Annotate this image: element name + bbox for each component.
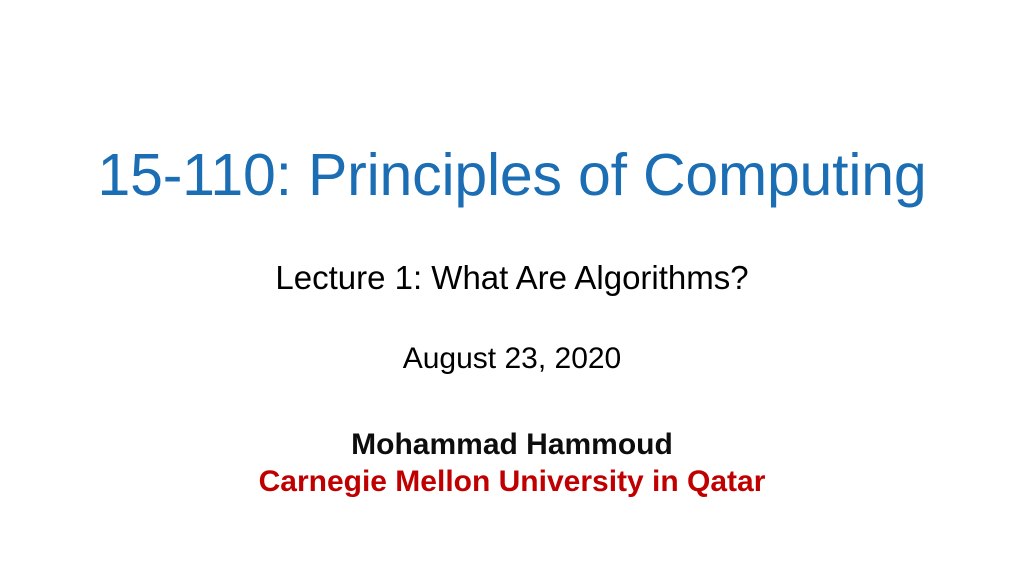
presenter-name: Mohammad Hammoud bbox=[0, 426, 1024, 464]
subtitle-date-spacer bbox=[0, 298, 1024, 341]
lecture-subtitle: Lecture 1: What Are Algorithms? bbox=[0, 258, 1024, 298]
lecture-date: August 23, 2020 bbox=[0, 341, 1024, 378]
slide-body-block: Lecture 1: What Are Algorithms? August 2… bbox=[0, 258, 1024, 501]
slide-title: 15-110: Principles of Computing bbox=[0, 142, 1024, 208]
title-block: 15-110: Principles of Computing bbox=[0, 142, 1024, 208]
date-presenter-spacer bbox=[0, 378, 1024, 426]
presenter-affiliation: Carnegie Mellon University in Qatar bbox=[0, 463, 1024, 501]
presentation-slide: 15-110: Principles of Computing Lecture … bbox=[0, 0, 1024, 576]
